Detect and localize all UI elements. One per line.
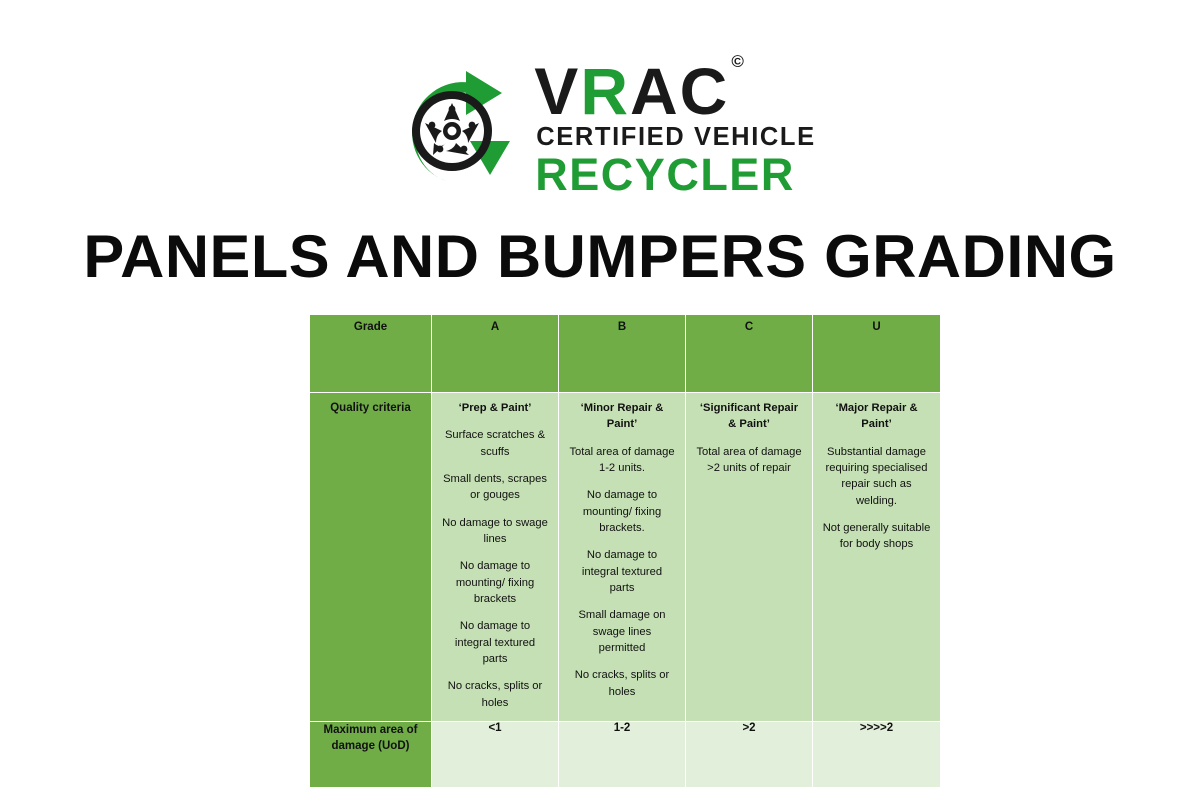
max-damage-value-u: >>>>2 xyxy=(813,721,940,787)
row-label-quality-criteria: Quality criteria xyxy=(310,392,432,721)
max-damage-value-b: 1-2 xyxy=(559,721,686,787)
criteria-point: Total area of damage >2 units of repair xyxy=(695,444,803,477)
vrac-logo: VRAC© CERTIFIED VEHICLE RECYCLER xyxy=(0,50,1200,205)
header-cell-grade-b: B xyxy=(559,315,686,392)
logo-recycler-word: RECYCLER xyxy=(535,152,795,198)
header-cell-grade: Grade xyxy=(310,315,432,392)
logo-letters-ac: AC xyxy=(630,54,729,128)
header-cell-grade-a: A xyxy=(432,315,559,392)
header-label-b: B xyxy=(559,315,685,333)
criteria-point: Substantial damage requiring specialised… xyxy=(822,444,931,509)
logo-letter-r: R xyxy=(580,54,630,128)
criteria-point: Total area of damage 1-2 units. xyxy=(568,444,676,477)
row-label-max-damage: Maximum area of damage (UoD) xyxy=(310,721,432,787)
table-row-quality-criteria: Quality criteria ‘Prep & Paint’ Surface … xyxy=(310,392,940,721)
criteria-cell-c: ‘Significant Repair & Paint’ Total area … xyxy=(686,392,813,721)
logo-tagline: CERTIFIED VEHICLE xyxy=(536,123,815,152)
header-cell-grade-c: C xyxy=(686,315,813,392)
criteria-title-a: ‘Prep & Paint’ xyxy=(441,400,549,416)
criteria-point: No damage to integral textured parts xyxy=(441,618,549,667)
row-label-quality-criteria-text: Quality criteria xyxy=(310,393,431,416)
criteria-cell-a: ‘Prep & Paint’ Surface scratches & scuff… xyxy=(432,392,559,721)
header-label-c: C xyxy=(686,315,812,333)
criteria-point: No cracks, splits or holes xyxy=(441,678,549,711)
criteria-title-u: ‘Major Repair & Paint’ xyxy=(822,400,931,433)
criteria-point: Small dents, scrapes or gouges xyxy=(441,471,549,504)
criteria-point: No cracks, splits or holes xyxy=(568,667,676,700)
criteria-point: No damage to integral textured parts xyxy=(568,547,676,596)
page-title: PANELS AND BUMPERS GRADING xyxy=(0,222,1200,291)
logo-wordmark-group: VRAC© CERTIFIED VEHICLE RECYCLER xyxy=(534,61,815,199)
logo-letter-v: V xyxy=(534,54,580,128)
header-label-u: U xyxy=(813,315,940,333)
criteria-point: Small damage on swage lines permitted xyxy=(568,607,676,656)
criteria-point: No damage to mounting/ fixing brackets xyxy=(441,558,549,607)
criteria-cell-b: ‘Minor Repair & Paint’ Total area of dam… xyxy=(559,392,686,721)
logo-wordmark: VRAC© xyxy=(534,61,742,122)
page-root: VRAC© CERTIFIED VEHICLE RECYCLER PANELS … xyxy=(0,0,1200,800)
header-label-a: A xyxy=(432,315,558,333)
table-row-max-damage: Maximum area of damage (UoD) <1 1-2 >2 >… xyxy=(310,721,940,787)
table-header-row: Grade A B C U xyxy=(310,315,940,392)
criteria-title-b: ‘Minor Repair & Paint’ xyxy=(568,400,676,433)
copyright-icon: © xyxy=(731,52,744,71)
criteria-point: No damage to mounting/ fixing brackets. xyxy=(568,487,676,536)
criteria-point: No damage to swage lines xyxy=(441,515,549,548)
criteria-cell-u: ‘Major Repair & Paint’ Substantial damag… xyxy=(813,392,940,721)
max-damage-value-a: <1 xyxy=(432,721,559,787)
row-label-max-damage-text: Maximum area of damage (UoD) xyxy=(310,722,431,755)
criteria-point: Surface scratches & scuffs xyxy=(441,427,549,460)
criteria-point: Not generally suitable for body shops xyxy=(822,520,931,553)
max-damage-value-c: >2 xyxy=(686,721,813,787)
header-cell-grade-u: U xyxy=(813,315,940,392)
header-label-grade: Grade xyxy=(310,315,431,333)
criteria-title-c: ‘Significant Repair & Paint’ xyxy=(695,400,803,433)
recycling-wheel-icon xyxy=(384,63,520,193)
grading-table: Grade A B C U Quality criteria xyxy=(310,315,940,787)
